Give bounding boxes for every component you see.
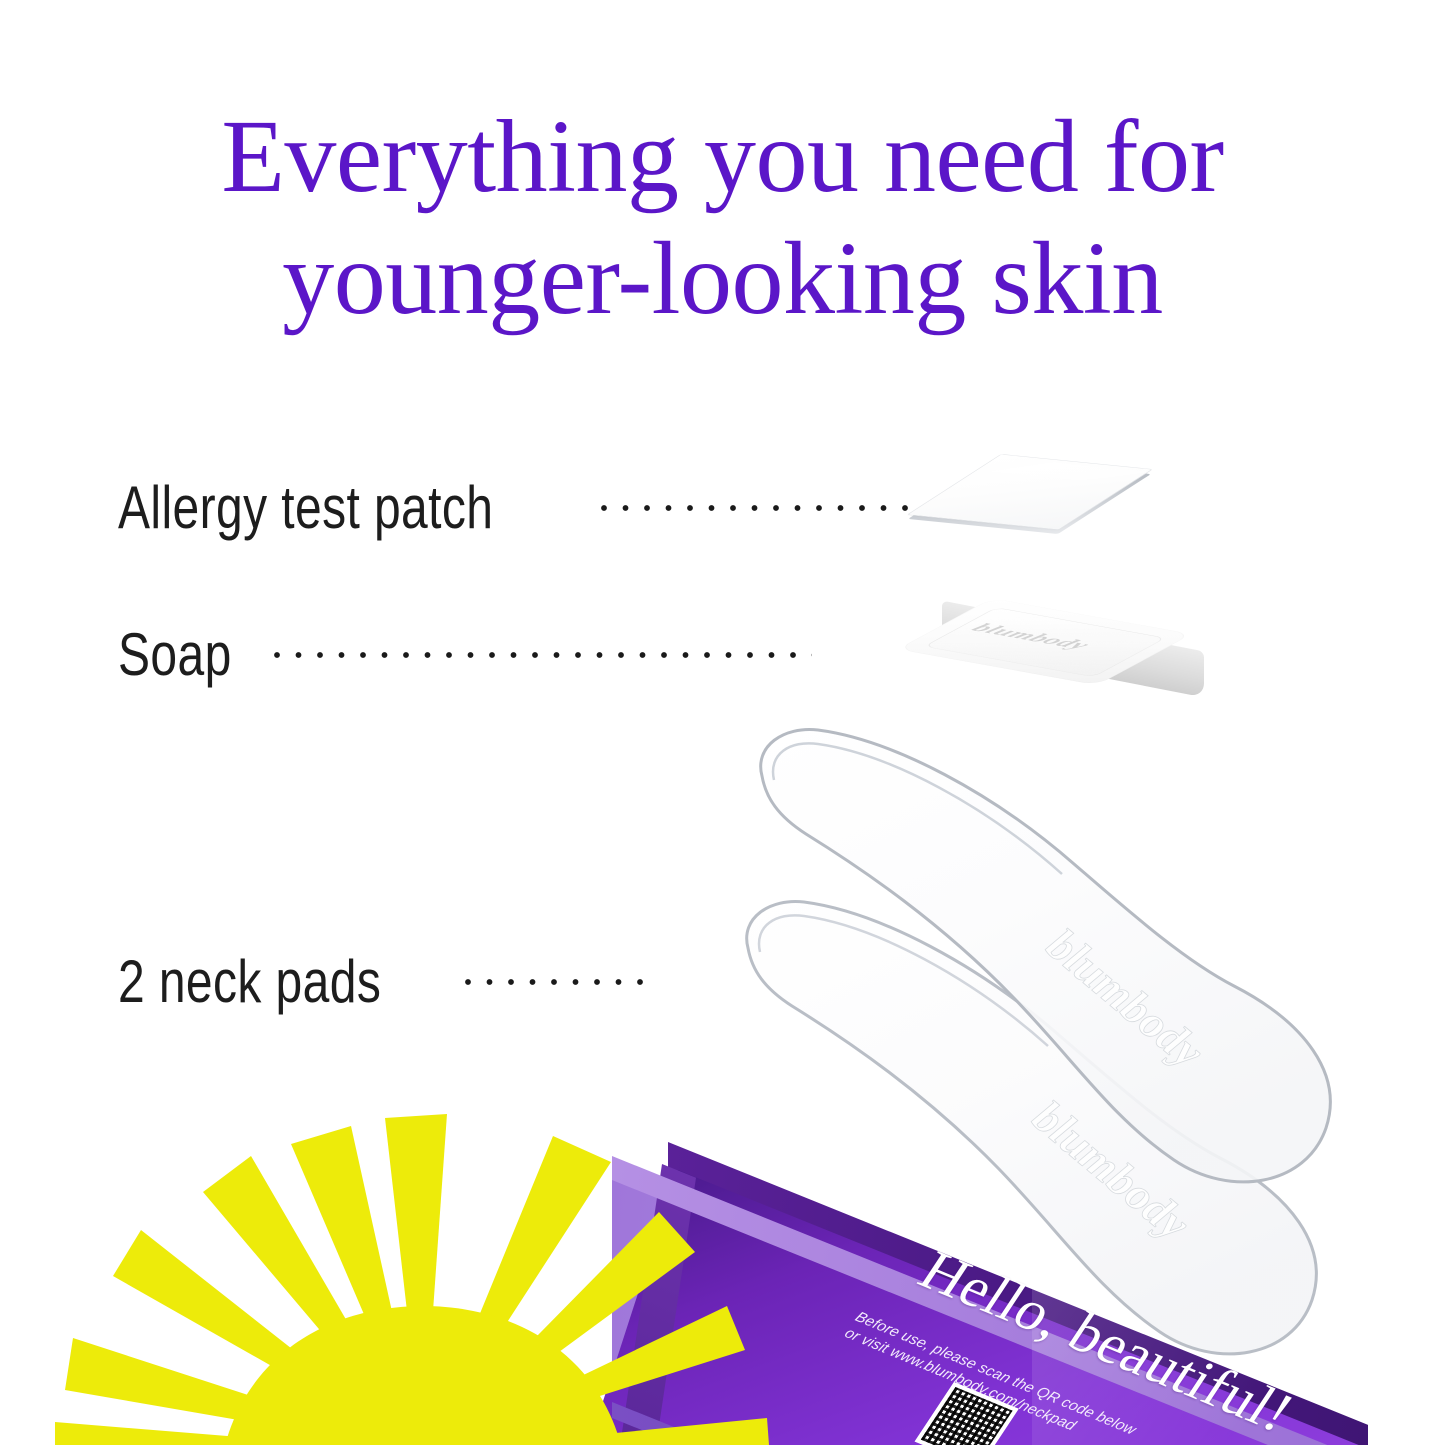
list-item-soap: Soap bbox=[118, 625, 812, 685]
patch-gloss bbox=[989, 462, 1150, 481]
dotted-leader bbox=[272, 650, 812, 660]
list-item-neck-pads: 2 neck pads bbox=[118, 952, 648, 1012]
product-marketing-image: Everything you need for younger-looking … bbox=[0, 0, 1445, 1445]
headline-line-2: younger-looking skin bbox=[0, 218, 1445, 340]
dotted-leader bbox=[463, 977, 648, 987]
list-item-allergy-test-patch: Allergy test patch bbox=[118, 478, 909, 538]
soap-bar-image: blumbody bbox=[930, 592, 1240, 702]
allergy-test-patch-image bbox=[985, 462, 1170, 542]
dotted-leader bbox=[599, 503, 909, 513]
neck-pads-image: blumbody blumbody bbox=[700, 700, 1445, 1260]
page-title: Everything you need for younger-looking … bbox=[0, 96, 1445, 340]
headline-line-1: Everything you need for bbox=[0, 96, 1445, 218]
list-item-label: Soap bbox=[118, 625, 232, 685]
list-item-label: 2 neck pads bbox=[118, 952, 381, 1012]
list-item-label: Allergy test patch bbox=[118, 478, 493, 538]
